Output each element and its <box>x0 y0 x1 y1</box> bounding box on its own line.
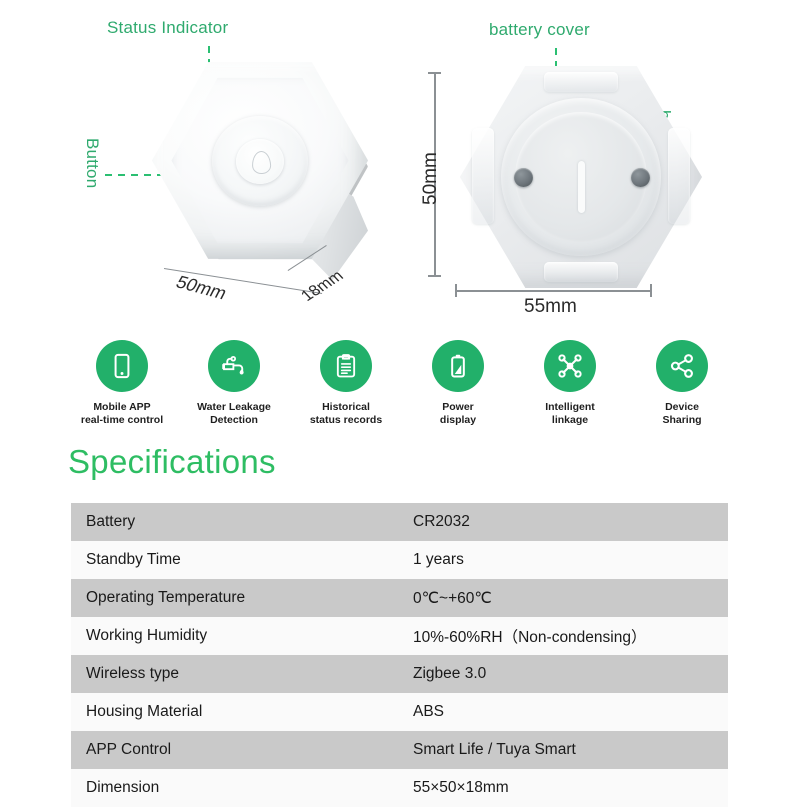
dimension-cap-left <box>455 284 457 297</box>
spec-key: Dimension <box>71 769 407 807</box>
feature-power-display: Power display <box>406 340 510 428</box>
product-showcase: Status Indicator Button 50mm <box>0 0 800 330</box>
feature-icon-circle <box>656 340 708 392</box>
feature-icon-circle <box>320 340 372 392</box>
feature-label: Water Leakage Detection <box>197 401 271 428</box>
spec-key: Battery <box>71 503 407 541</box>
feature-mobile-app: Mobile APP real-time control <box>70 340 174 428</box>
annotation-button: Button <box>82 138 102 188</box>
spec-key: APP Control <box>71 731 407 769</box>
feature-label: Historical status records <box>310 401 382 428</box>
probe-contact-left <box>514 168 533 187</box>
spec-value: 10%-60%RH（Non-condensing） <box>407 617 728 655</box>
table-row: APP Control Smart Life / Tuya Smart <box>71 731 728 769</box>
dimension-label: 50mm <box>420 152 442 205</box>
dimension-cap-top <box>428 72 441 74</box>
button-core <box>236 139 284 184</box>
feature-intelligent-linkage: Intelligent linkage <box>518 340 622 428</box>
product-back-view-panel: battery cover battery cover 50mm <box>412 0 800 330</box>
spec-value: 0℃~+60℃ <box>407 579 728 617</box>
network-nodes-icon <box>555 351 585 381</box>
feature-icon-circle <box>208 340 260 392</box>
specifications-table: Battery CR2032 Standby Time 1 years Oper… <box>71 503 728 807</box>
button-ring <box>212 116 308 206</box>
annotation-battery-cover-top: battery cover <box>489 20 590 40</box>
water-sensor-back-image <box>460 66 702 288</box>
dimension-label: 55mm <box>524 296 577 318</box>
dimension-label: 18mm <box>298 268 348 306</box>
spec-key: Housing Material <box>71 693 407 731</box>
table-row: Working Humidity 10%-60%RH（Non-condensin… <box>71 617 728 655</box>
feature-label: Mobile APP real-time control <box>81 401 163 428</box>
water-sensor-front-image <box>152 58 368 263</box>
probe-contact-right <box>631 168 650 187</box>
mobile-phone-icon <box>108 352 136 380</box>
spec-value: ABS <box>407 693 728 731</box>
feature-water-leakage: Water Leakage Detection <box>182 340 286 428</box>
table-row: Dimension 55×50×18mm <box>71 769 728 807</box>
water-drop-icon <box>251 150 271 174</box>
feature-label: Device Sharing <box>662 401 701 428</box>
back-segment-bottom <box>544 262 618 282</box>
spec-key: Operating Temperature <box>71 579 407 617</box>
table-row: Housing Material ABS <box>71 693 728 731</box>
back-segment-top <box>544 72 618 92</box>
feature-device-sharing: Device Sharing <box>630 340 734 428</box>
battery-cover-slot <box>578 161 585 213</box>
feature-icon-circle <box>96 340 148 392</box>
spec-value: Smart Life / Tuya Smart <box>407 731 728 769</box>
feature-label: Power display <box>440 401 476 428</box>
table-row: Wireless type Zigbee 3.0 <box>71 655 728 693</box>
water-tap-icon <box>219 351 249 381</box>
dimension-cap-right <box>650 284 652 297</box>
spec-key: Standby Time <box>71 541 407 579</box>
battery-icon <box>444 352 472 380</box>
feature-icon-circle <box>432 340 484 392</box>
feature-icon-row: Mobile APP real-time control Water Leaka… <box>70 340 734 440</box>
product-front-view-panel: Status Indicator Button 50mm <box>60 0 420 330</box>
table-row: Operating Temperature 0℃~+60℃ <box>71 579 728 617</box>
feature-icon-circle <box>544 340 596 392</box>
dimension-line <box>455 290 651 292</box>
spec-value: Zigbee 3.0 <box>407 655 728 693</box>
feature-label: Intelligent linkage <box>545 401 595 428</box>
spec-value: 55×50×18mm <box>407 769 728 807</box>
spec-key: Working Humidity <box>71 617 407 655</box>
feature-historical-records: Historical status records <box>294 340 398 428</box>
dimension-cap-bottom <box>428 275 441 277</box>
table-row: Standby Time 1 years <box>71 541 728 579</box>
back-segment-right <box>668 128 690 224</box>
spec-value: CR2032 <box>407 503 728 541</box>
back-segment-left <box>472 128 494 224</box>
clipboard-icon <box>332 352 360 380</box>
annotation-status-indicator: Status Indicator <box>107 18 228 38</box>
spec-key: Wireless type <box>71 655 407 693</box>
spec-value: 1 years <box>407 541 728 579</box>
share-icon <box>668 352 696 380</box>
table-row: Battery CR2032 <box>71 503 728 541</box>
specifications-heading: Specifications <box>68 443 276 481</box>
